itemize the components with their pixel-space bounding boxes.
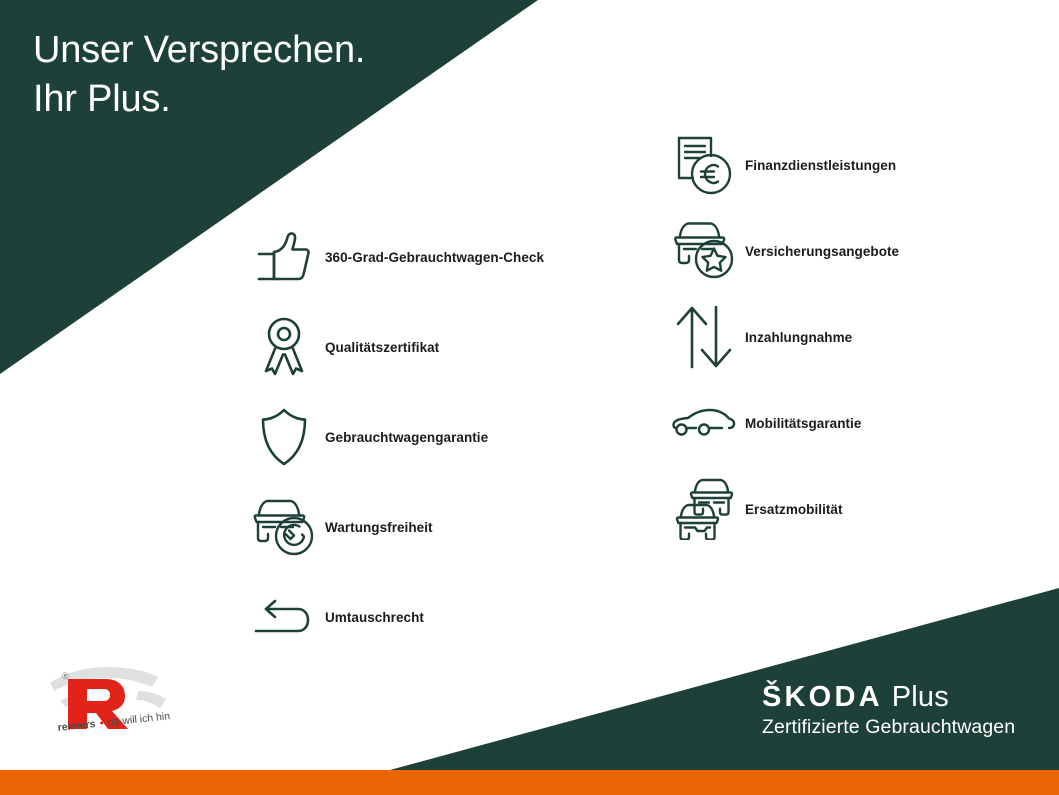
feature-label: Finanzdienstleistungen xyxy=(745,158,896,173)
two-cars-icon xyxy=(663,478,745,540)
feature-label: Qualitätszertifikat xyxy=(325,340,439,355)
reimers-logo-artwork: ® x reimers • da will ich hin xyxy=(42,657,202,737)
reimers-separator: • xyxy=(99,717,104,729)
feature-label: Mobilitätsgarantie xyxy=(745,416,861,431)
feature-item-financial-services[interactable]: Finanzdienstleistungen xyxy=(663,122,1053,208)
reimers-logo[interactable]: ® x reimers • da will ich hin xyxy=(42,657,202,737)
feature-item-360-check[interactable]: 360-Grad-Gebrauchtwagen-Check xyxy=(243,212,643,302)
promo-banner: Unser Versprechen. Ihr Plus. 360-Grad-Ge… xyxy=(0,0,1059,795)
shield-icon xyxy=(243,408,325,466)
feature-label: Wartungsfreiheit xyxy=(325,520,433,535)
reimers-tagline: da will ich hin xyxy=(107,710,171,728)
feature-label: Versicherungsangebote xyxy=(745,244,899,259)
plus-wordmark: Plus xyxy=(892,681,949,714)
orange-accent-bar xyxy=(0,770,1059,795)
registered-trademark-symbol: ® xyxy=(62,671,69,681)
skoda-plus-subtitle: Zertifizierte Gebrauchtwagen xyxy=(762,716,1015,739)
award-rosette-icon xyxy=(243,317,325,377)
feature-label: Gebrauchtwagengarantie xyxy=(325,430,488,445)
feature-item-maintenance-free[interactable]: Wartungsfreiheit xyxy=(243,482,643,572)
feature-item-mobility-guarantee[interactable]: Mobilitätsgarantie xyxy=(663,380,1053,466)
feature-label: Inzahlungnahme xyxy=(745,330,852,345)
feature-item-trade-in[interactable]: Inzahlungnahme xyxy=(663,294,1053,380)
car-star-icon xyxy=(663,221,745,281)
page-title: Unser Versprechen. Ihr Plus. xyxy=(33,26,365,124)
feature-item-replacement-mobility[interactable]: Ersatzmobilität xyxy=(663,466,1053,552)
return-arrow-icon xyxy=(243,599,325,635)
reimers-name-text: reimers xyxy=(57,718,96,734)
feature-list-right: Finanzdienstleistungen Versicherungsange… xyxy=(663,122,1053,552)
thumbs-up-icon xyxy=(243,231,325,283)
feature-item-insurance-offers[interactable]: Versicherungsangebote xyxy=(663,208,1053,294)
car-wrench-icon xyxy=(243,498,325,556)
sedan-car-icon xyxy=(663,408,745,438)
skoda-plus-lockup: ŠKODA Plus Zertifizierte Gebrauchtwagen xyxy=(762,681,1015,739)
feature-label: 360-Grad-Gebrauchtwagen-Check xyxy=(325,250,544,265)
feature-item-warranty[interactable]: Gebrauchtwagengarantie xyxy=(243,392,643,482)
feature-list-left: 360-Grad-Gebrauchtwagen-Check Qualitätsz… xyxy=(243,212,643,662)
document-euro-icon xyxy=(663,134,745,196)
feature-label: Ersatzmobilität xyxy=(745,502,843,517)
feature-label: Umtauschrecht xyxy=(325,610,424,625)
feature-item-quality-certificate[interactable]: Qualitätszertifikat xyxy=(243,302,643,392)
up-down-arrows-icon xyxy=(663,305,745,369)
skoda-plus-wordmark: ŠKODA Plus xyxy=(762,681,1015,714)
skoda-wordmark: ŠKODA xyxy=(762,681,883,714)
feature-item-return-right[interactable]: Umtauschrecht xyxy=(243,572,643,662)
